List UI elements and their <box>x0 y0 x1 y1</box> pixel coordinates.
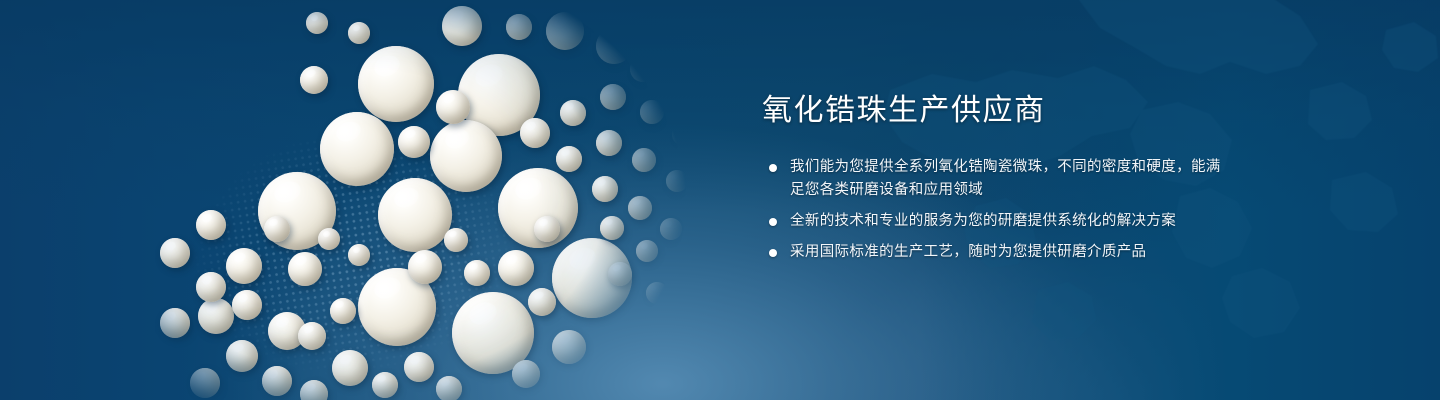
hero-banner: 氧化锆珠生产供应商 我们能为您提供全系列氧化锆陶瓷微珠，不同的密度和硬度，能满足… <box>0 0 1440 400</box>
page-title: 氧化锆珠生产供应商 <box>762 92 1232 130</box>
bullet-dot-icon <box>769 249 777 257</box>
bullet-dot-icon <box>769 164 777 172</box>
list-item-label: 我们能为您提供全系列氧化锆陶瓷微珠，不同的密度和硬度，能满足您各类研磨设备和应用… <box>790 159 1221 198</box>
banner-copy: 氧化锆珠生产供应商 我们能为您提供全系列氧化锆陶瓷微珠，不同的密度和硬度，能满足… <box>762 92 1232 264</box>
feature-list: 我们能为您提供全系列氧化锆陶瓷微珠，不同的密度和硬度，能满足您各类研磨设备和应用… <box>762 156 1232 264</box>
list-item: 采用国际标准的生产工艺，随时为您提供研磨介质产品 <box>762 241 1232 264</box>
list-item-label: 采用国际标准的生产工艺，随时为您提供研磨介质产品 <box>790 244 1146 260</box>
list-item: 我们能为您提供全系列氧化锆陶瓷微珠，不同的密度和硬度，能满足您各类研磨设备和应用… <box>762 156 1232 202</box>
list-item-label: 全新的技术和专业的服务为您的研磨提供系统化的解决方案 <box>790 213 1176 229</box>
bullet-dot-icon <box>769 218 777 226</box>
list-item: 全新的技术和专业的服务为您的研磨提供系统化的解决方案 <box>762 210 1232 233</box>
zirconia-beads-photo <box>0 0 780 400</box>
